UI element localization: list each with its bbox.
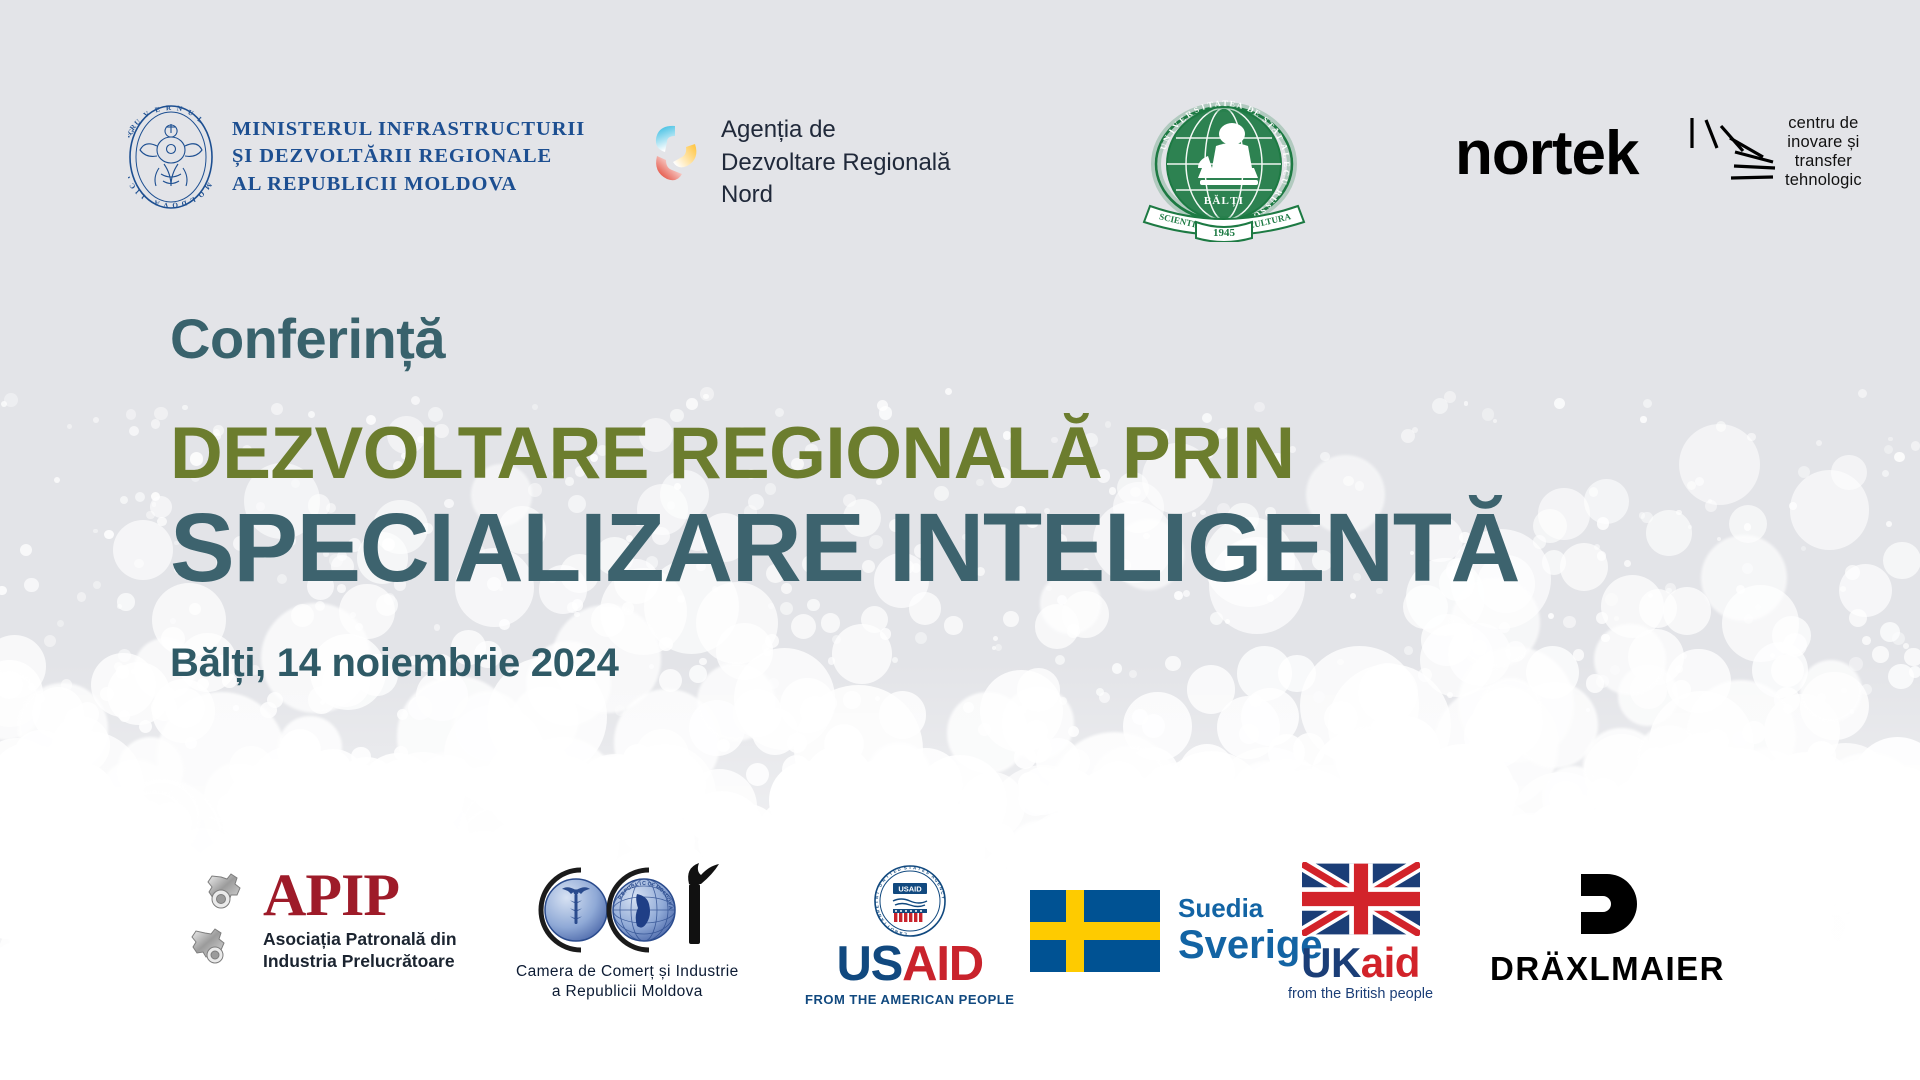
bokeh-bubble bbox=[1461, 1032, 1500, 1071]
bokeh-bubble bbox=[1759, 752, 1854, 847]
bokeh-bubble bbox=[278, 1033, 422, 1080]
bokeh-bubble bbox=[235, 801, 258, 824]
bokeh-bubble bbox=[1002, 687, 1074, 759]
bokeh-bubble bbox=[1211, 747, 1326, 862]
bokeh-bubble bbox=[1533, 535, 1546, 548]
bokeh-bubble bbox=[1024, 1051, 1125, 1080]
bokeh-bubble bbox=[702, 1062, 784, 1080]
bokeh-bubble bbox=[1535, 1037, 1593, 1080]
bokeh-bubble bbox=[1795, 1030, 1896, 1080]
bokeh-bubble bbox=[1628, 629, 1684, 685]
bokeh-bubble bbox=[1370, 1020, 1441, 1080]
bokeh-bubble bbox=[93, 529, 97, 533]
bokeh-bubble bbox=[1091, 746, 1168, 823]
bokeh-bubble bbox=[972, 1049, 1004, 1080]
bokeh-bubble bbox=[1030, 819, 1062, 851]
bokeh-bubble bbox=[1744, 614, 1754, 624]
cci-subtitle: Camera de Comerț și Industrie a Republic… bbox=[516, 962, 739, 1003]
bokeh-bubble bbox=[170, 1013, 238, 1080]
bokeh-bubble bbox=[308, 686, 336, 714]
bokeh-bubble bbox=[1795, 796, 1828, 829]
bokeh-bubble bbox=[1839, 564, 1892, 617]
bokeh-bubble bbox=[614, 689, 721, 796]
svg-text:A: A bbox=[1214, 99, 1221, 109]
bokeh-bubble bbox=[827, 828, 865, 866]
bokeh-bubble bbox=[1026, 1017, 1107, 1080]
bokeh-bubble bbox=[169, 1055, 231, 1080]
bokeh-bubble bbox=[1179, 744, 1235, 800]
bokeh-bubble bbox=[563, 1051, 585, 1073]
bokeh-bubble bbox=[717, 739, 730, 752]
bokeh-bubble bbox=[767, 1028, 837, 1080]
bokeh-bubble bbox=[1586, 674, 1605, 693]
bokeh-bubble bbox=[1639, 512, 1646, 519]
bokeh-bubble bbox=[1740, 1016, 1831, 1080]
bokeh-bubble bbox=[721, 1058, 753, 1080]
bokeh-bubble bbox=[1225, 1022, 1268, 1065]
bokeh-bubble bbox=[715, 804, 780, 869]
bokeh-bubble bbox=[1668, 844, 1678, 854]
bokeh-bubble bbox=[801, 1017, 863, 1079]
bokeh-bubble bbox=[1800, 660, 1862, 722]
bokeh-bubble bbox=[267, 692, 283, 708]
bokeh-bubble bbox=[1642, 1042, 1707, 1080]
bokeh-bubble bbox=[1911, 441, 1920, 451]
ministry-name: MINISTERUL INFRASTRUCTURII ȘI DEZVOLTĂRI… bbox=[232, 116, 585, 198]
bokeh-bubble bbox=[1193, 756, 1214, 777]
bokeh-bubble bbox=[49, 1072, 69, 1080]
bokeh-bubble bbox=[118, 649, 132, 663]
bokeh-bubble bbox=[1735, 1021, 1889, 1080]
bokeh-bubble bbox=[869, 1048, 938, 1080]
bokeh-bubble bbox=[1816, 440, 1822, 446]
logo-uk-aid: UKaid from the British people bbox=[1288, 862, 1433, 1002]
bokeh-bubble bbox=[1162, 1066, 1273, 1080]
bokeh-bubble bbox=[1641, 512, 1653, 524]
bokeh-bubble bbox=[1550, 1046, 1575, 1071]
bokeh-bubble bbox=[351, 747, 371, 767]
bokeh-bubble bbox=[1605, 593, 1618, 606]
bokeh-bubble bbox=[1852, 737, 1920, 828]
logo-apip: APIP Asociația Patronală din Industria P… bbox=[185, 868, 457, 972]
bokeh-bubble bbox=[1688, 525, 1692, 529]
bokeh-bubble bbox=[347, 1077, 384, 1080]
bokeh-bubble bbox=[298, 811, 341, 854]
bokeh-bubble bbox=[151, 419, 161, 429]
bokeh-bubble bbox=[245, 1027, 313, 1080]
bokeh-bubble bbox=[1695, 748, 1785, 838]
bokeh-bubble bbox=[219, 1048, 280, 1080]
bokeh-bubble bbox=[140, 1066, 198, 1080]
bokeh-bubble bbox=[1617, 1067, 1635, 1080]
bokeh-bubble bbox=[300, 1075, 321, 1080]
bokeh-bubble bbox=[34, 773, 105, 844]
bokeh-bubble bbox=[1718, 747, 1744, 773]
bokeh-bubble bbox=[96, 1062, 150, 1080]
bokeh-bubble bbox=[1025, 720, 1048, 743]
bokeh-bubble bbox=[873, 796, 917, 840]
bokeh-bubble bbox=[394, 1036, 450, 1080]
bokeh-bubble bbox=[61, 727, 85, 751]
bokeh-bubble bbox=[1036, 738, 1081, 783]
bokeh-bubble bbox=[18, 683, 108, 773]
bokeh-bubble bbox=[205, 1065, 225, 1080]
bokeh-bubble bbox=[349, 808, 405, 864]
bokeh-bubble bbox=[52, 716, 110, 774]
bokeh-bubble bbox=[1557, 1030, 1644, 1080]
bokeh-bubble bbox=[84, 779, 117, 812]
bokeh-bubble bbox=[1742, 721, 1766, 745]
bokeh-bubble bbox=[1233, 759, 1340, 866]
bokeh-bubble bbox=[1062, 771, 1094, 803]
svg-text:I: I bbox=[875, 892, 880, 894]
bokeh-bubble bbox=[118, 737, 183, 802]
bokeh-bubble bbox=[615, 705, 626, 716]
bokeh-bubble bbox=[1268, 734, 1305, 771]
bokeh-bubble bbox=[1495, 1048, 1558, 1080]
bokeh-bubble bbox=[1736, 585, 1745, 594]
bokeh-bubble bbox=[1093, 761, 1144, 812]
bokeh-bubble bbox=[799, 791, 876, 868]
bokeh-bubble bbox=[787, 733, 807, 753]
bokeh-bubble bbox=[131, 1069, 179, 1080]
bokeh-bubble bbox=[1610, 665, 1620, 675]
bokeh-bubble bbox=[1242, 1061, 1299, 1080]
bokeh-bubble bbox=[1158, 776, 1254, 872]
bokeh-bubble bbox=[1533, 1064, 1607, 1080]
bokeh-bubble bbox=[1614, 616, 1619, 621]
svg-text:T: T bbox=[908, 865, 911, 870]
bokeh-bubble bbox=[81, 1059, 124, 1080]
bokeh-bubble bbox=[151, 695, 177, 721]
bokeh-bubble bbox=[1880, 622, 1900, 642]
svg-text:I: I bbox=[134, 188, 142, 196]
bokeh-bubble bbox=[222, 759, 339, 876]
bokeh-bubble bbox=[1475, 1031, 1499, 1055]
bokeh-bubble bbox=[217, 793, 246, 822]
bokeh-bubble bbox=[1732, 731, 1748, 747]
bokeh-bubble bbox=[1167, 785, 1224, 842]
bokeh-bubble bbox=[0, 1029, 35, 1078]
bokeh-bubble bbox=[0, 738, 58, 820]
bokeh-bubble bbox=[1618, 665, 1678, 725]
bokeh-bubble bbox=[1005, 1046, 1112, 1080]
bokeh-bubble bbox=[879, 691, 927, 739]
svg-text:T: T bbox=[1222, 99, 1228, 108]
bokeh-bubble bbox=[1747, 433, 1756, 442]
bokeh-bubble bbox=[0, 671, 23, 699]
svg-text:E: E bbox=[1282, 161, 1291, 167]
bokeh-bubble bbox=[401, 817, 441, 857]
bokeh-bubble bbox=[435, 1063, 500, 1080]
bokeh-bubble bbox=[1792, 755, 1821, 784]
bokeh-bubble bbox=[1068, 726, 1080, 738]
bokeh-bubble bbox=[430, 1040, 481, 1080]
bokeh-bubble bbox=[198, 1037, 281, 1080]
bokeh-bubble bbox=[93, 417, 99, 423]
bokeh-bubble bbox=[1510, 1030, 1548, 1068]
bokeh-bubble bbox=[1770, 653, 1775, 658]
bokeh-bubble bbox=[831, 815, 866, 850]
bokeh-bubble bbox=[334, 757, 399, 822]
bokeh-bubble bbox=[316, 779, 380, 843]
bokeh-bubble bbox=[776, 1030, 839, 1080]
bokeh-bubble bbox=[824, 724, 865, 765]
bokeh-bubble bbox=[685, 1022, 710, 1047]
bokeh-bubble bbox=[733, 689, 782, 738]
bokeh-bubble bbox=[153, 1045, 260, 1080]
bokeh-bubble bbox=[804, 746, 872, 814]
bokeh-bubble bbox=[50, 1037, 106, 1080]
bokeh-bubble bbox=[132, 821, 145, 834]
bokeh-bubble bbox=[644, 1065, 726, 1080]
bokeh-bubble bbox=[1589, 487, 1598, 496]
bokeh-bubble bbox=[1023, 734, 1052, 763]
bokeh-bubble bbox=[1139, 1019, 1185, 1065]
bokeh-bubble bbox=[394, 746, 408, 760]
bokeh-bubble bbox=[1161, 1019, 1248, 1080]
bokeh-bubble bbox=[867, 742, 931, 806]
bokeh-bubble bbox=[389, 792, 439, 842]
bokeh-bubble bbox=[606, 1018, 684, 1080]
bokeh-bubble bbox=[1722, 585, 1799, 662]
bokeh-bubble bbox=[1715, 762, 1792, 839]
ministry-line-2: ȘI DEZVOLTĂRII REGIONALE bbox=[232, 143, 585, 170]
bokeh-bubble bbox=[777, 1076, 796, 1080]
bokeh-bubble bbox=[97, 1027, 161, 1080]
bokeh-bubble bbox=[32, 687, 84, 739]
bokeh-bubble bbox=[586, 798, 654, 866]
bokeh-bubble bbox=[1302, 778, 1325, 801]
bokeh-bubble bbox=[313, 1063, 345, 1080]
bokeh-bubble bbox=[233, 705, 238, 710]
bokeh-bubble bbox=[777, 1033, 878, 1080]
bokeh-bubble bbox=[213, 1023, 294, 1080]
bokeh-bubble bbox=[1324, 701, 1358, 735]
bokeh-bubble bbox=[1232, 1047, 1276, 1080]
bokeh-bubble bbox=[1883, 1023, 1902, 1042]
bokeh-bubble bbox=[1100, 781, 1178, 859]
bokeh-bubble bbox=[1059, 697, 1067, 705]
bokeh-bubble bbox=[261, 806, 313, 858]
bokeh-bubble bbox=[862, 755, 927, 820]
bokeh-bubble bbox=[1371, 722, 1440, 791]
bokeh-bubble bbox=[1159, 783, 1232, 856]
bokeh-bubble bbox=[107, 662, 170, 725]
bokeh-bubble bbox=[0, 1024, 116, 1080]
bokeh-bubble bbox=[1858, 389, 1867, 398]
bokeh-bubble bbox=[1055, 777, 1104, 826]
bokeh-bubble bbox=[1687, 481, 1696, 490]
bokeh-bubble bbox=[248, 1061, 362, 1080]
bokeh-bubble bbox=[32, 731, 143, 842]
bokeh-bubble bbox=[822, 1065, 844, 1080]
bokeh-bubble bbox=[1666, 649, 1731, 714]
bokeh-bubble bbox=[1351, 1070, 1428, 1080]
bokeh-bubble bbox=[56, 719, 90, 753]
bokeh-bubble bbox=[1697, 759, 1754, 816]
bokeh-bubble bbox=[1772, 830, 1790, 848]
bokeh-bubble bbox=[1783, 633, 1807, 657]
bokeh-bubble bbox=[359, 753, 437, 831]
bokeh-bubble bbox=[1053, 1060, 1087, 1080]
bokeh-bubble bbox=[1831, 455, 1867, 491]
bokeh-bubble bbox=[1745, 1035, 1893, 1080]
bokeh-bubble bbox=[1221, 791, 1257, 827]
bokeh-bubble bbox=[1558, 1065, 1594, 1080]
bokeh-bubble bbox=[497, 766, 545, 814]
bokeh-bubble bbox=[499, 757, 578, 836]
bokeh-bubble bbox=[1098, 780, 1177, 859]
usaid-word-aid: AID bbox=[902, 937, 983, 991]
svg-text:O: O bbox=[172, 201, 179, 209]
svg-text:U: U bbox=[1279, 177, 1289, 185]
bokeh-bubble bbox=[817, 762, 895, 840]
bokeh-bubble bbox=[5, 790, 22, 807]
bokeh-bubble bbox=[1507, 1040, 1529, 1062]
bokeh-bubble bbox=[1447, 692, 1453, 698]
bokeh-bubble bbox=[49, 763, 115, 829]
usaid-handshake-seal-icon: U N I T E D S T A T E S A G E bbox=[873, 864, 947, 938]
bokeh-bubble bbox=[246, 1014, 353, 1080]
bokeh-bubble bbox=[1214, 812, 1247, 845]
bokeh-bubble bbox=[1246, 1015, 1325, 1080]
bokeh-bubble bbox=[645, 816, 696, 867]
bokeh-bubble bbox=[1470, 1047, 1586, 1080]
bokeh-bubble bbox=[514, 755, 607, 848]
bokeh-bubble bbox=[387, 782, 416, 811]
bokeh-bubble bbox=[498, 796, 531, 829]
bokeh-bubble bbox=[1814, 1061, 1840, 1080]
logo-draxlmaier: DRÄXLMAIER bbox=[1490, 872, 1725, 988]
bokeh-bubble bbox=[320, 700, 325, 705]
bokeh-bubble bbox=[1594, 544, 1600, 550]
bokeh-bubble bbox=[539, 695, 551, 707]
bokeh-bubble bbox=[1149, 1062, 1186, 1080]
bokeh-bubble bbox=[305, 1061, 413, 1080]
bokeh-bubble bbox=[1836, 1036, 1865, 1065]
bokeh-bubble bbox=[1637, 1069, 1695, 1080]
bokeh-bubble bbox=[460, 1037, 537, 1080]
bokeh-bubble bbox=[262, 1058, 310, 1080]
bokeh-bubble bbox=[1752, 767, 1788, 803]
bokeh-bubble bbox=[1554, 398, 1565, 409]
bokeh-bubble bbox=[1293, 733, 1325, 765]
bokeh-bubble bbox=[1063, 749, 1091, 777]
bokeh-bubble bbox=[1642, 1023, 1712, 1080]
bokeh-bubble bbox=[1511, 682, 1598, 769]
svg-text:M: M bbox=[203, 181, 214, 191]
bokeh-bubble bbox=[463, 1042, 533, 1080]
logo-adr-nord: Agenția de Dezvoltare Regională Nord bbox=[645, 114, 950, 212]
svg-text:A: A bbox=[913, 865, 917, 870]
bokeh-bubble bbox=[1583, 728, 1659, 804]
bokeh-bubble bbox=[1741, 765, 1796, 820]
bokeh-bubble bbox=[1489, 695, 1513, 719]
bokeh-bubble bbox=[1903, 643, 1909, 649]
bokeh-bubble bbox=[730, 1076, 784, 1080]
bokeh-bubble bbox=[1338, 1023, 1364, 1049]
bokeh-bubble bbox=[546, 1075, 587, 1080]
bokeh-bubble bbox=[482, 1040, 505, 1063]
bokeh-bubble bbox=[1317, 1034, 1352, 1069]
bokeh-bubble bbox=[152, 502, 157, 507]
bokeh-bubble bbox=[1154, 1071, 1226, 1080]
bokeh-bubble bbox=[1752, 642, 1809, 699]
bokeh-bubble bbox=[165, 688, 206, 729]
bokeh-bubble bbox=[1300, 1045, 1324, 1069]
bokeh-bubble bbox=[1586, 708, 1590, 712]
bokeh-bubble bbox=[0, 1014, 77, 1080]
bokeh-bubble bbox=[534, 785, 563, 814]
bokeh-bubble bbox=[1594, 624, 1665, 695]
bokeh-bubble bbox=[279, 729, 321, 771]
bokeh-bubble bbox=[329, 1044, 464, 1080]
ukaid-word-aid: aid bbox=[1361, 939, 1420, 986]
bokeh-bubble bbox=[69, 1024, 126, 1080]
bokeh-bubble bbox=[800, 696, 830, 726]
bokeh-bubble bbox=[67, 424, 72, 429]
nortek-tagline: centru de inovare și transfer tehnologic bbox=[1785, 114, 1862, 190]
bokeh-bubble bbox=[1774, 1063, 1848, 1080]
bokeh-bubble bbox=[1830, 760, 1889, 819]
adr-nord-swirl-icon bbox=[645, 122, 701, 184]
bokeh-bubble bbox=[409, 788, 427, 806]
bokeh-bubble bbox=[128, 800, 165, 837]
bokeh-bubble bbox=[1233, 1065, 1316, 1080]
usaid-word-us: US bbox=[836, 937, 902, 991]
bokeh-bubble bbox=[1250, 1020, 1284, 1054]
bokeh-bubble bbox=[1710, 762, 1778, 830]
bokeh-bubble bbox=[162, 687, 175, 700]
bokeh-bubble bbox=[119, 710, 131, 722]
bokeh-bubble bbox=[397, 676, 518, 797]
bokeh-bubble bbox=[1554, 1037, 1625, 1080]
bokeh-bubble bbox=[0, 1027, 140, 1080]
bokeh-bubble bbox=[564, 1034, 622, 1080]
bokeh-bubble bbox=[660, 1032, 759, 1080]
bokeh-bubble bbox=[1266, 1050, 1334, 1080]
bokeh-bubble bbox=[64, 805, 99, 840]
bokeh-bubble bbox=[1849, 657, 1863, 671]
bokeh-bubble bbox=[1123, 692, 1192, 761]
bokeh-bubble bbox=[1845, 565, 1860, 580]
bokeh-bubble bbox=[889, 1036, 912, 1059]
bokeh-bubble bbox=[1876, 782, 1920, 870]
bokeh-bubble bbox=[1755, 1047, 1828, 1080]
bokeh-bubble bbox=[1597, 551, 1607, 561]
bokeh-bubble bbox=[1241, 688, 1299, 746]
bokeh-bubble bbox=[213, 1047, 313, 1080]
bokeh-bubble bbox=[41, 833, 73, 865]
bokeh-bubble bbox=[64, 707, 94, 737]
bokeh-bubble bbox=[298, 786, 376, 864]
bokeh-bubble bbox=[1836, 1021, 1890, 1075]
bokeh-bubble bbox=[1596, 612, 1608, 624]
bokeh-bubble bbox=[20, 544, 32, 556]
bokeh-bubble bbox=[378, 761, 442, 825]
bokeh-bubble bbox=[165, 1062, 260, 1080]
bokeh-bubble bbox=[642, 1066, 712, 1080]
bokeh-bubble bbox=[1125, 747, 1179, 801]
bokeh-bubble bbox=[1565, 794, 1595, 824]
svg-text:P: P bbox=[128, 140, 129, 147]
bokeh-bubble bbox=[1320, 1035, 1390, 1080]
bokeh-bubble bbox=[630, 1045, 699, 1080]
bokeh-bubble bbox=[126, 409, 137, 420]
bokeh-bubble bbox=[1362, 1030, 1477, 1080]
bokeh-bubble bbox=[835, 1072, 857, 1080]
